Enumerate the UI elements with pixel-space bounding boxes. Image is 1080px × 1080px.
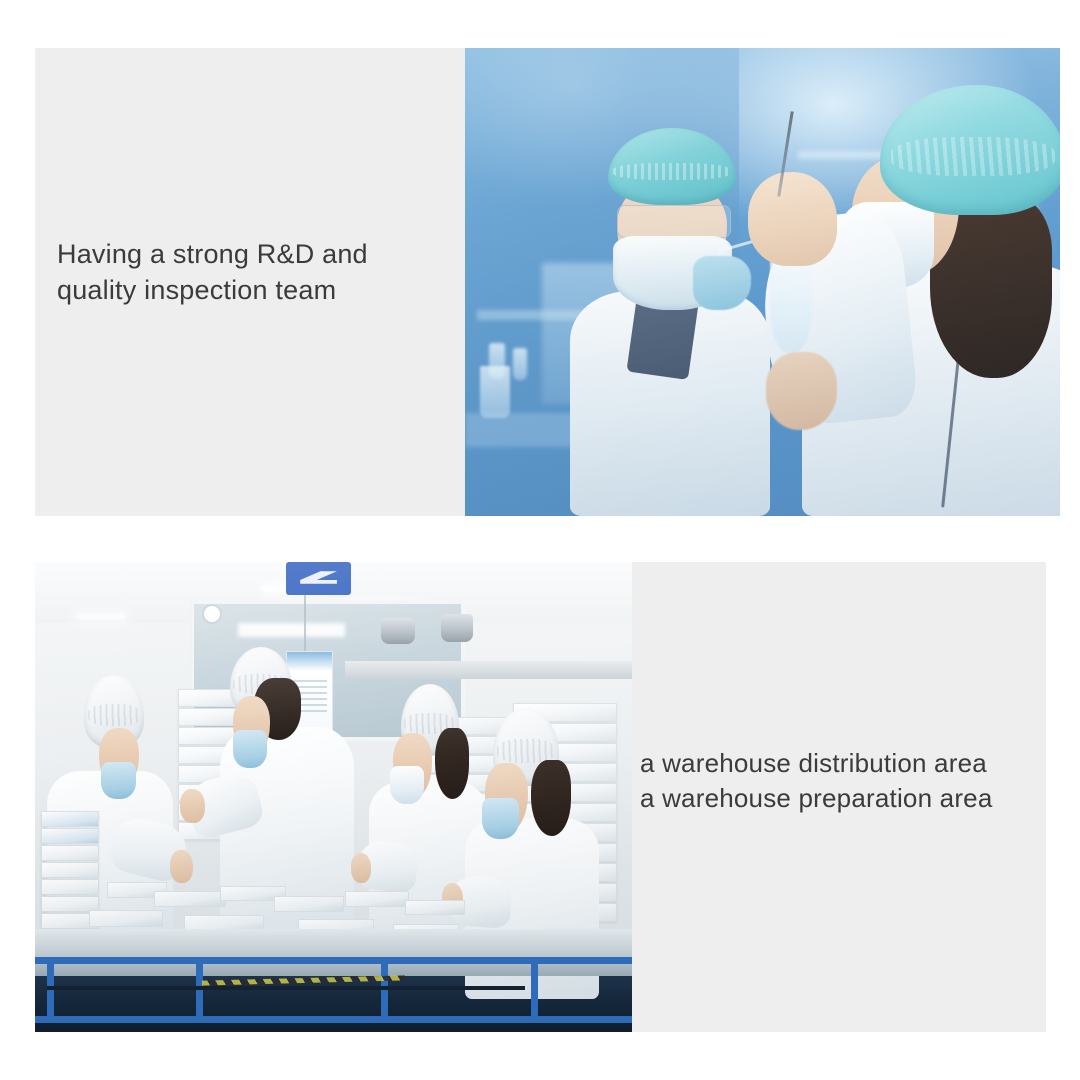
top-caption-text: Having a strong R&D and quality inspecti… <box>57 236 457 308</box>
worker-hand <box>351 853 371 883</box>
worker-hand <box>180 789 205 823</box>
carton-box <box>41 811 99 827</box>
bottom-caption-panel: a warehouse distribution area a warehous… <box>632 562 1046 1032</box>
table-leg <box>381 957 388 1023</box>
safety-glasses-icon <box>617 205 731 238</box>
rd-quality-inspection-photo <box>465 48 1060 516</box>
back-counter <box>345 661 632 680</box>
lab-worker-hand <box>748 172 837 267</box>
hairnet-cap <box>608 128 737 206</box>
carton-box <box>345 891 409 907</box>
carton-box <box>41 879 99 895</box>
lab-bottle <box>513 348 527 380</box>
face-mask <box>101 762 135 799</box>
face-mask <box>233 730 267 767</box>
top-caption-panel: Having a strong R&D and quality inspecti… <box>35 48 465 516</box>
bottom-caption-text: a warehouse distribution area a warehous… <box>640 746 1046 816</box>
top-section: Having a strong R&D and quality inspecti… <box>35 48 1060 516</box>
hanging-cord <box>304 595 306 651</box>
lab-worker-right <box>745 85 1060 516</box>
window-light-reflection <box>238 623 345 637</box>
table-leg <box>47 957 54 1023</box>
carton-box <box>41 862 99 878</box>
table-leg <box>531 957 538 1023</box>
table-leg <box>196 957 203 1023</box>
lab-beaker <box>480 366 510 418</box>
blue-wall-sign-icon <box>286 562 352 595</box>
lab-worker-hand <box>766 352 837 429</box>
steel-container <box>381 618 415 644</box>
carton-box <box>41 845 99 861</box>
bottom-section: a warehouse distribution area a warehous… <box>35 562 1046 1032</box>
face-mask <box>482 798 519 839</box>
carton-box <box>274 896 344 912</box>
carton-box <box>405 900 465 915</box>
face-mask <box>390 766 424 804</box>
worker-hair <box>531 760 571 836</box>
face-mask-blue <box>693 256 750 310</box>
worker-hand <box>170 850 193 884</box>
warehouse-packing-photo <box>35 562 632 1032</box>
carton-box <box>41 828 99 844</box>
carton-box <box>89 910 163 927</box>
hairnet-cap <box>880 85 1060 214</box>
carton-box <box>154 891 226 907</box>
packing-table-frame <box>35 957 632 1023</box>
table-rail <box>47 986 525 990</box>
steel-container <box>441 614 473 642</box>
ceiling-light <box>77 614 125 619</box>
